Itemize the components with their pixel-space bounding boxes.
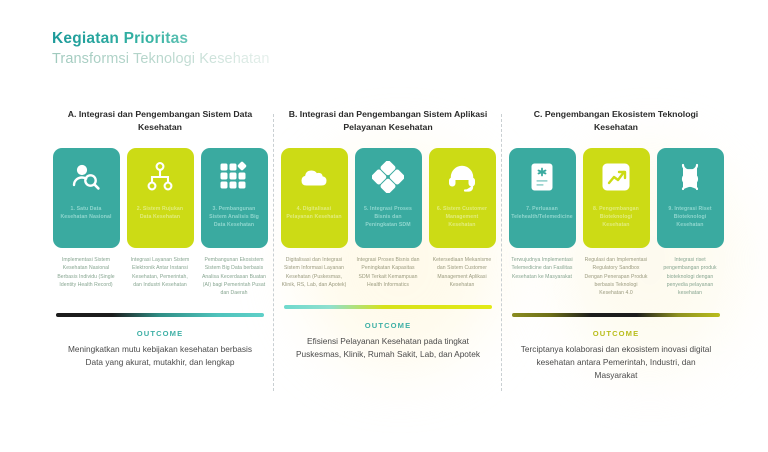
infographic-canvas: Kegiatan Prioritas Transformsi Teknologi… (0, 0, 768, 452)
outcome-a: OUTCOME Meningkatkan mutu kebijakan kese… (52, 329, 268, 369)
description-text: Regulasi dan Implementasi Regulatory San… (583, 256, 650, 297)
card-big-data-kesehatan[interactable]: 3. Pembangunan Sistem Analisis Big Data … (201, 148, 268, 248)
description-text: Integrasi Layanan Sistem Elektronik Anta… (127, 256, 194, 297)
column-c-heading: C. Pengembangan Ekosistem Teknologi Kese… (508, 108, 724, 144)
card-bioteknologi[interactable]: 8. Pengembangan Bioteknologi Kesehatan (583, 148, 650, 248)
outcome-text: Meningkatkan mutu kebijakan kesehatan be… (60, 343, 260, 369)
card-integrasi-riset[interactable]: 9. Integrasi Riset Bioteknologi Kesehata… (657, 148, 724, 248)
outcome-label: OUTCOME (60, 329, 260, 338)
divider-bar-a (56, 313, 264, 317)
column-b: B. Integrasi dan Pengembangan Sistem Apl… (274, 108, 502, 383)
column-c: C. Pengembangan Ekosistem Teknologi Kese… (502, 108, 730, 383)
column-a-descriptions: Implementasi Sistem Kesehatan Nasional B… (52, 256, 268, 297)
columns-container: A. Integrasi dan Pengembangan Sistem Dat… (46, 108, 730, 383)
page-title: Kegiatan Prioritas (52, 30, 270, 48)
network-hierarchy-icon (143, 160, 177, 194)
card-label: 8. Pengembangan Bioteknologi Kesehatan (583, 206, 650, 229)
column-b-heading: B. Integrasi dan Pengembangan Sistem Apl… (280, 108, 496, 144)
description-text: Implementasi Sistem Kesehatan Nasional B… (53, 256, 120, 297)
column-a-cards: 1. Satu Data Kesehatan Nasional 2. Siste… (52, 148, 268, 248)
card-customer-management[interactable]: 6. Sistem Customer Management Kesehatan (429, 148, 496, 248)
headset-support-icon (445, 160, 479, 194)
puzzle-diamond-icon (371, 160, 405, 194)
card-digitalisasi-pelayanan[interactable]: 4. Digitalisasi Pelayanan Kesehatan (281, 148, 348, 248)
grid-dashboard-icon (217, 160, 251, 194)
page-subtitle: Transformsi Teknologi Kesehatan (52, 51, 270, 67)
column-b-cards: 4. Digitalisasi Pelayanan Kesehatan (280, 148, 496, 248)
header: Kegiatan Prioritas Transformsi Teknologi… (52, 30, 270, 67)
outcome-label: OUTCOME (516, 329, 716, 338)
outcome-c: OUTCOME Terciptanya kolaborasi dan ekosi… (508, 329, 724, 382)
card-label: 1. Satu Data Kesehatan Nasional (53, 206, 120, 222)
card-label: 7. Perluasan Telehealth/Telemedicine (507, 206, 577, 222)
description-text: Pembangunan Ekosistem Sistem Big Data be… (201, 256, 268, 297)
card-label: 9. Integrasi Riset Bioteknologi Kesehata… (657, 206, 724, 229)
outcome-text: Terciptanya kolaborasi dan ekosistem ino… (516, 343, 716, 382)
description-text: Terwujudnya Implementasi Telemedicine da… (509, 256, 576, 297)
outcome-text: Efisiensi Pelayanan Kesehatan pada tingk… (288, 335, 488, 361)
card-satu-data-kesehatan[interactable]: 1. Satu Data Kesehatan Nasional (53, 148, 120, 248)
description-text: Integrasi Proses Bisnis dan Peningkatan … (355, 256, 422, 289)
column-a-heading: A. Integrasi dan Pengembangan Sistem Dat… (52, 108, 268, 144)
cloud-icon (297, 160, 331, 194)
card-label: 4. Digitalisasi Pelayanan Kesehatan (281, 206, 348, 222)
dna-helix-icon (673, 160, 707, 194)
divider-bar-c (512, 313, 720, 317)
card-label: 2. Sistem Rujukan Data Kesehatan (127, 206, 194, 222)
column-c-descriptions: Terwujudnya Implementasi Telemedicine da… (508, 256, 724, 297)
growth-chart-icon (599, 160, 633, 194)
outcome-label: OUTCOME (288, 321, 488, 330)
card-sistem-rujukan-data[interactable]: 2. Sistem Rujukan Data Kesehatan (127, 148, 194, 248)
medical-document-icon (525, 160, 559, 194)
column-a: A. Integrasi dan Pengembangan Sistem Dat… (46, 108, 274, 383)
card-label: 6. Sistem Customer Management Kesehatan (429, 206, 496, 229)
card-label: 3. Pembangunan Sistem Analisis Big Data … (201, 206, 268, 229)
card-label: 5. Integrasi Proses Bisnis dan Peningkat… (355, 206, 422, 229)
user-search-icon (69, 160, 103, 194)
card-telehealth[interactable]: 7. Perluasan Telehealth/Telemedicine (509, 148, 576, 248)
outcome-b: OUTCOME Efisiensi Pelayanan Kesehatan pa… (280, 321, 496, 361)
divider-bar-b (284, 305, 492, 309)
description-text: Digitalisasi dan Integrasi Sistem Inform… (281, 256, 348, 289)
card-integrasi-proses-bisnis[interactable]: 5. Integrasi Proses Bisnis dan Peningkat… (355, 148, 422, 248)
column-b-descriptions: Digitalisasi dan Integrasi Sistem Inform… (280, 256, 496, 289)
description-text: Ketersediaan Mekanisme dan Sistem Custom… (429, 256, 496, 289)
column-c-cards: 7. Perluasan Telehealth/Telemedicine 8. … (508, 148, 724, 248)
description-text: Integrasi riset pengembangan produk biot… (657, 256, 724, 297)
